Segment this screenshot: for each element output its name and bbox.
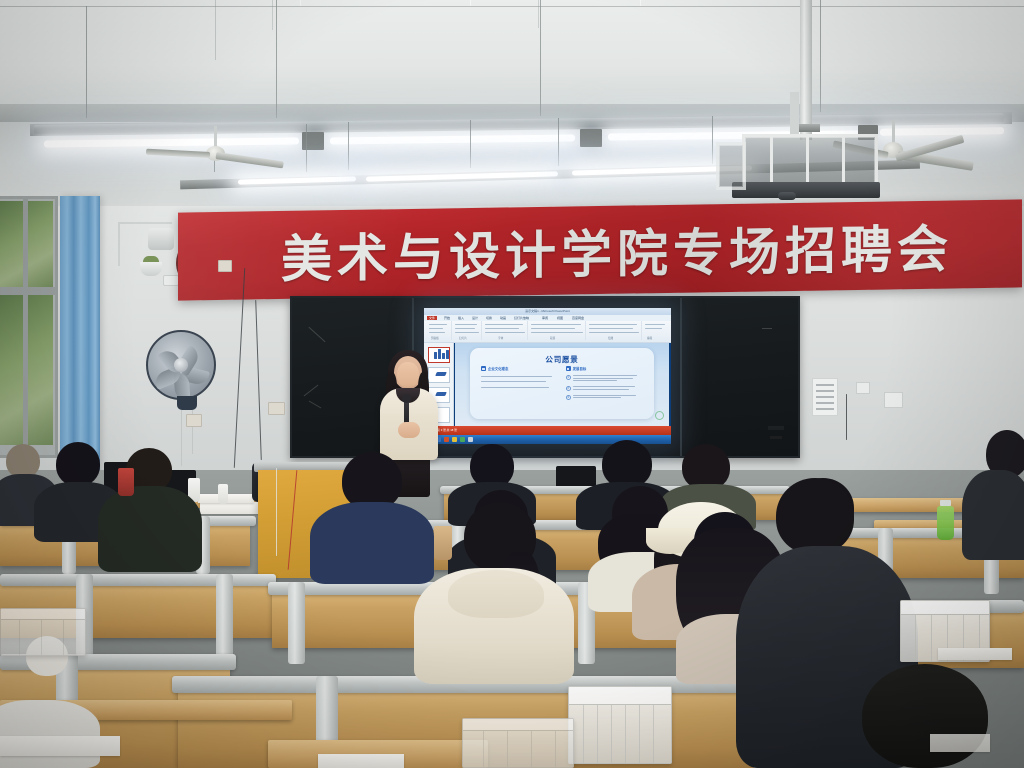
taskbar-icon[interactable] bbox=[460, 437, 465, 442]
paper-sheet bbox=[930, 734, 990, 752]
slide-right-heading: 发展目标 bbox=[573, 366, 587, 371]
ppt-tab-insert[interactable]: 插入 bbox=[458, 316, 464, 320]
fan-mount-bracket bbox=[177, 396, 197, 410]
slide-bullet-icon bbox=[481, 366, 486, 371]
ppt-group-paragraph: 段落 bbox=[550, 336, 555, 340]
ppt-tab-design[interactable]: 设计 bbox=[472, 316, 478, 320]
paper-sheet bbox=[318, 754, 404, 768]
presenter-hands bbox=[398, 422, 420, 438]
slide-item-number: 1 bbox=[566, 375, 571, 380]
ceiling-fan-rod-right bbox=[892, 120, 895, 144]
ppt-window-title: 演示文稿1 - Microsoft PowerPoint bbox=[525, 309, 570, 313]
ppt-title-bar: 演示文稿1 - Microsoft PowerPoint bbox=[424, 308, 671, 315]
wall-notice-sign bbox=[812, 378, 838, 416]
ppt-group-drawing: 绘图 bbox=[608, 336, 613, 340]
wall-conduit bbox=[118, 222, 120, 266]
ppt-tab-home[interactable]: 开始 bbox=[444, 316, 450, 320]
wall-outlet bbox=[218, 260, 232, 272]
watermark-icon bbox=[655, 411, 664, 420]
ppt-tab-view[interactable]: 视图 bbox=[557, 316, 563, 320]
audience-head bbox=[56, 442, 100, 486]
wall-speaker bbox=[148, 228, 174, 250]
taskbar-icon[interactable] bbox=[444, 437, 449, 442]
bench-rail bbox=[0, 574, 276, 586]
ppt-group-clipboard: 剪贴板 bbox=[431, 336, 439, 340]
ceiling-fan-rod-left bbox=[214, 126, 217, 148]
slide-content: 公司愿景 企业文化理念 发展目标 1 bbox=[470, 348, 654, 419]
slide-bullet-icon bbox=[566, 366, 571, 371]
banner-text: 美术与设计学院专场招聘会 bbox=[178, 199, 1022, 300]
storage-crate bbox=[462, 718, 574, 768]
fan-pull-cord bbox=[181, 410, 182, 466]
audience-head bbox=[776, 478, 854, 554]
ceiling-pipe bbox=[800, 0, 812, 140]
slide-title: 公司愿景 bbox=[470, 354, 654, 365]
taskbar-icon[interactable] bbox=[452, 437, 457, 442]
ppt-group-slides: 幻灯片 bbox=[459, 336, 467, 340]
ppt-tab-slideshow[interactable]: 幻灯片放映 bbox=[514, 316, 529, 320]
storage-crate bbox=[0, 608, 86, 656]
slide-thumbnail[interactable] bbox=[428, 347, 450, 363]
audience-head bbox=[602, 440, 652, 488]
audience-head bbox=[862, 664, 988, 768]
ppt-ribbon: 剪贴板 幻灯片 字体 段落 bbox=[424, 321, 671, 343]
wall-sign bbox=[884, 392, 903, 408]
audience-torso bbox=[98, 486, 202, 572]
projector-cage bbox=[742, 134, 878, 186]
paper-cup bbox=[218, 484, 228, 504]
audience-torso bbox=[0, 700, 100, 768]
audience-torso bbox=[962, 470, 1024, 560]
ppt-slide-stage: 公司愿景 企业文化理念 发展目标 1 bbox=[455, 343, 669, 426]
wall-plant-pot bbox=[140, 262, 162, 276]
wall-sign bbox=[856, 382, 870, 394]
green-soda-bottle bbox=[937, 506, 954, 540]
ppt-tab-file[interactable]: 文件 bbox=[427, 316, 437, 320]
projector-lens bbox=[778, 192, 796, 200]
ppt-status-bar: 幻灯片 第 3 张,共 18 张 bbox=[424, 426, 671, 435]
wall-outlet bbox=[268, 402, 285, 415]
wall-conduit bbox=[118, 222, 172, 224]
slide-right-column: 发展目标 1 2 3 bbox=[566, 366, 640, 403]
bench-leg bbox=[216, 574, 233, 660]
storage-crate bbox=[568, 686, 672, 764]
fan-hub bbox=[174, 358, 188, 372]
ppt-tab-animations[interactable]: 动画 bbox=[500, 316, 506, 320]
bench-leg bbox=[288, 582, 305, 664]
event-banner: 美术与设计学院专场招聘会 bbox=[178, 199, 1022, 300]
hoodie-hood bbox=[448, 570, 544, 618]
ppt-tab-transitions[interactable]: 切换 bbox=[486, 316, 492, 320]
microphone-head bbox=[402, 394, 411, 403]
presenter-face bbox=[397, 362, 419, 388]
taskbar-icon[interactable] bbox=[468, 437, 473, 442]
slide-item-number: 3 bbox=[566, 395, 571, 400]
ppt-tab-review[interactable]: 审阅 bbox=[542, 316, 548, 320]
wall-switch-plate bbox=[163, 275, 179, 286]
light-tube-4 bbox=[880, 127, 1004, 136]
projected-powerpoint: 演示文稿1 - Microsoft PowerPoint 文件 开始 插入 设计… bbox=[424, 308, 671, 444]
paper-stack bbox=[200, 502, 260, 514]
slide-thumbnail[interactable] bbox=[428, 367, 450, 383]
paper-sheet bbox=[0, 736, 120, 756]
audience-torso bbox=[310, 502, 434, 584]
ppt-group-font: 字体 bbox=[498, 336, 503, 340]
ppt-tab-baidu[interactable]: 百度网盘 bbox=[572, 316, 584, 320]
slide-item-number: 2 bbox=[566, 386, 571, 391]
thermos bbox=[118, 468, 134, 496]
projector-pole bbox=[790, 92, 799, 136]
wall-mounted-fan bbox=[146, 330, 216, 400]
slide-left-heading: 企业文化理念 bbox=[488, 366, 508, 371]
classroom-photo-scene: 美术与设计学院专场招聘会 演示文稿1 - Microsoft PowerPoin… bbox=[0, 0, 1024, 768]
slide-left-column: 企业文化理念 bbox=[481, 366, 555, 392]
thermos bbox=[434, 526, 452, 560]
projector bbox=[732, 182, 880, 198]
classroom-window bbox=[0, 196, 58, 458]
ceiling-slab bbox=[0, 0, 1024, 118]
paper-sheet bbox=[938, 648, 1012, 660]
wall-outlet bbox=[186, 414, 202, 427]
ppt-group-editing: 编辑 bbox=[647, 336, 652, 340]
audience-head bbox=[6, 444, 40, 478]
